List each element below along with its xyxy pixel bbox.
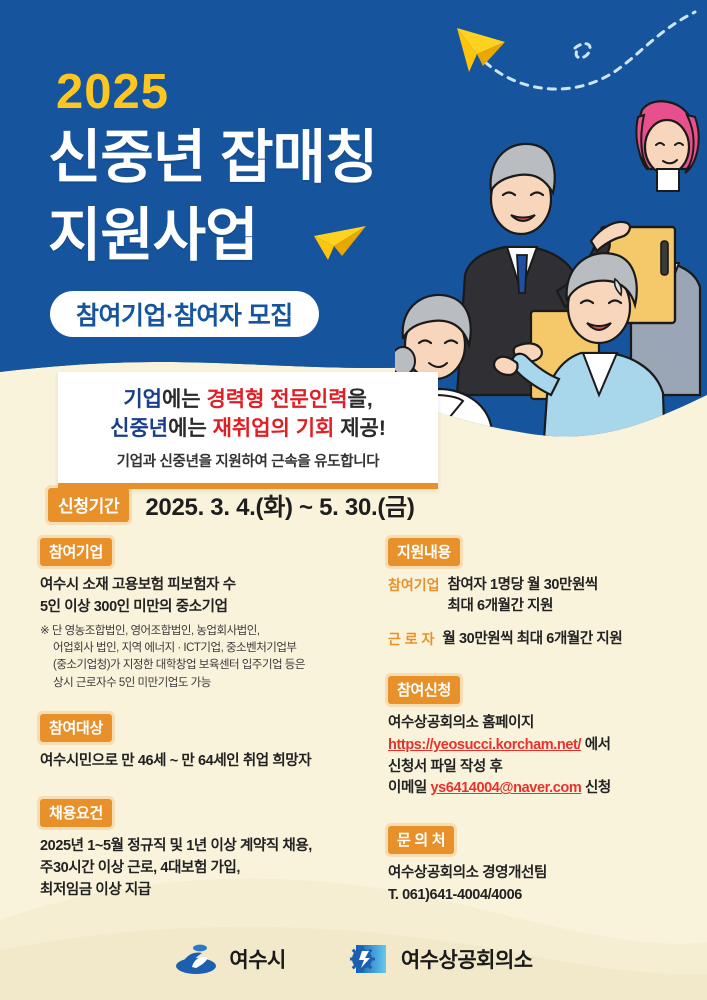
message-l2-d: 제공! bbox=[334, 417, 385, 440]
section-participating-company: 참여기업 여수시 소재 고용보험 피보험자 수 5인 이상 300인 미만의 중… bbox=[40, 538, 380, 692]
apply-line4-prefix: 이메일 bbox=[388, 780, 430, 796]
apply-line2-suffix: 에서 bbox=[581, 737, 611, 753]
apply-line-4: 이메일 ys6414004@naver.com 신청 bbox=[388, 778, 688, 800]
section-body-participating-company: 여수시 소재 고용보험 피보험자 수 5인 이상 300인 미만의 중소기업 bbox=[40, 575, 380, 619]
section-support: 지원내용 참여기업 참여자 1명당 월 30만원씩 최대 6개월간 지원 근 로… bbox=[388, 538, 688, 650]
pc-note-0: ※ 단 영농조합법인, 영어조합법인, 농업회사법인, bbox=[40, 623, 380, 640]
application-period-row: 신청기간 2025. 3. 4.(화) ~ 5. 30.(금) bbox=[48, 487, 415, 522]
message-l2-b: 에는 bbox=[168, 417, 212, 440]
poster-year: 2025 bbox=[56, 68, 169, 117]
apply-website-link[interactable]: https://yeosucci.korcham.net/ bbox=[388, 737, 581, 753]
subtitle-pill: 참여기업·참여자 모집 bbox=[50, 291, 319, 337]
yeosu-chamber-logo-icon bbox=[350, 942, 390, 976]
section-hiring-requirements: 채용요건 2025년 1~5월 정규직 및 1년 이상 계약직 채용, 주30시… bbox=[40, 799, 380, 901]
support-row-worker: 근 로 자 월 30만원씩 최대 6개월간 지원 bbox=[388, 629, 688, 650]
application-period-badge: 신청기간 bbox=[48, 488, 129, 522]
left-content-column: 참여기업 여수시 소재 고용보험 피보험자 수 5인 이상 300인 미만의 중… bbox=[40, 538, 380, 918]
message-l1-d: 을, bbox=[348, 388, 373, 411]
section-contact: 문 의 처 여수상공회의소 경영개선팀 T. 061)641-4004/4006 bbox=[388, 826, 688, 907]
apply-line-2: https://yeosucci.korcham.net/ 에서 bbox=[388, 735, 688, 757]
message-l1-c: 경력형 전문인력 bbox=[206, 388, 347, 411]
message-l1-b: 에는 bbox=[162, 388, 206, 411]
logo-yeosu-city: 여수시 bbox=[174, 943, 285, 975]
message-l2-a: 신중년 bbox=[110, 417, 168, 440]
logo-yeosu-chamber: 여수상공회의소 bbox=[350, 942, 533, 976]
section-badge-apply: 참여신청 bbox=[388, 676, 460, 704]
hr-line-2: 최저임금 이상 지급 bbox=[40, 880, 380, 902]
support-label-company: 참여기업 bbox=[388, 575, 440, 595]
right-content-column: 지원내용 참여기업 참여자 1명당 월 30만원씩 최대 6개월간 지원 근 로… bbox=[388, 538, 688, 924]
section-target: 참여대상 여수시민으로 만 46세 ~ 만 64세인 취업 희망자 bbox=[40, 714, 380, 773]
poster-root: 2025 신중년 잡매칭 지원사업 참여기업·참여자 모집 bbox=[0, 0, 707, 1000]
message-line-1: 기업에는 경력형 전문인력을, bbox=[74, 386, 422, 415]
section-note-participating-company: ※ 단 영농조합법인, 영어조합법인, 농업회사법인, 어업회사 법인, 지역 … bbox=[40, 623, 380, 693]
support-company-v0: 참여자 1명당 월 30만원씩 bbox=[448, 575, 598, 596]
apply-line-3: 신청서 파일 작성 후 bbox=[388, 757, 688, 779]
section-badge-support: 지원내용 bbox=[388, 538, 460, 566]
paper-plane-trail-icon bbox=[427, 0, 707, 110]
message-line-2: 신중년에는 재취업의 기회 제공! bbox=[74, 415, 422, 444]
support-worker-v0: 월 30만원씩 최대 6개월간 지원 bbox=[442, 629, 622, 650]
support-row-company: 참여기업 참여자 1명당 월 30만원씩 최대 6개월간 지원 bbox=[388, 575, 688, 617]
logo-label-yeosu-city: 여수시 bbox=[229, 944, 285, 974]
section-badge-target: 참여대상 bbox=[40, 714, 112, 742]
section-badge-participating-company: 참여기업 bbox=[40, 538, 112, 566]
contact-line-1: T. 061)641-4004/4006 bbox=[388, 885, 688, 907]
apply-email-link[interactable]: ys6414004@naver.com bbox=[430, 780, 581, 796]
paper-plane-icon bbox=[312, 222, 368, 264]
footer-logos: 여수시 bbox=[0, 942, 707, 976]
support-value-company: 참여자 1명당 월 30만원씩 최대 6개월간 지원 bbox=[448, 575, 598, 617]
hr-line-0: 2025년 1~5월 정규직 및 1년 이상 계약직 채용, bbox=[40, 836, 380, 858]
poster-title-line2: 지원사업 bbox=[48, 206, 257, 265]
logo-label-yeosu-chamber: 여수상공회의소 bbox=[401, 944, 533, 974]
message-l2-c: 재취업의 기회 bbox=[213, 417, 335, 440]
pc-note-3: 상시 근로자수 5인 미만기업도 가능 bbox=[40, 675, 380, 692]
poster-title-line1: 신중년 잡매칭 bbox=[48, 128, 377, 187]
message-l1-a: 기업 bbox=[123, 388, 162, 411]
section-body-contact: 여수상공회의소 경영개선팀 T. 061)641-4004/4006 bbox=[388, 863, 688, 907]
section-badge-contact: 문 의 처 bbox=[388, 826, 454, 854]
section-body-target: 여수시민으로 만 46세 ~ 만 64세인 취업 희망자 bbox=[40, 751, 380, 773]
support-company-v1: 최대 6개월간 지원 bbox=[448, 596, 598, 617]
pc-line-0: 여수시 소재 고용보험 피보험자 수 bbox=[40, 575, 380, 597]
section-badge-hiring-requirements: 채용요건 bbox=[40, 799, 112, 827]
support-value-worker: 월 30만원씩 최대 6개월간 지원 bbox=[442, 629, 622, 650]
support-label-worker: 근 로 자 bbox=[388, 629, 434, 649]
contact-line-0: 여수상공회의소 경영개선팀 bbox=[388, 863, 688, 885]
application-period-value: 2025. 3. 4.(화) ~ 5. 30.(금) bbox=[145, 487, 414, 522]
pc-line-1: 5인 이상 300인 미만의 중소기업 bbox=[40, 597, 380, 619]
target-line-0: 여수시민으로 만 46세 ~ 만 64세인 취업 희망자 bbox=[40, 751, 380, 773]
section-body-hiring-requirements: 2025년 1~5월 정규직 및 1년 이상 계약직 채용, 주30시간 이상 … bbox=[40, 836, 380, 901]
pc-note-1: 어업회사 법인, 지역 에너지 · ICT기업, 중소벤처기업부 bbox=[40, 640, 380, 657]
people-illustration bbox=[395, 95, 707, 515]
pc-note-2: (중소기업청)가 지정한 대학창업 보육센터 입주기업 등은 bbox=[40, 657, 380, 674]
hr-line-1: 주30시간 이상 근로, 4대보험 가입, bbox=[40, 858, 380, 880]
message-subline: 기업과 신중년을 지원하여 근속을 유도합니다 bbox=[74, 450, 422, 471]
section-body-apply: 여수상공회의소 홈페이지 https://yeosucci.korcham.ne… bbox=[388, 713, 688, 800]
apply-line4-suffix: 신청 bbox=[581, 780, 611, 796]
section-apply: 참여신청 여수상공회의소 홈페이지 https://yeosucci.korch… bbox=[388, 676, 688, 800]
support-spacer bbox=[388, 621, 688, 629]
apply-line-1: 여수상공회의소 홈페이지 bbox=[388, 713, 688, 735]
key-message-box: 기업에는 경력형 전문인력을, 신중년에는 재취업의 기회 제공! 기업과 신중… bbox=[58, 372, 438, 489]
yeosu-city-logo-icon bbox=[174, 943, 218, 975]
